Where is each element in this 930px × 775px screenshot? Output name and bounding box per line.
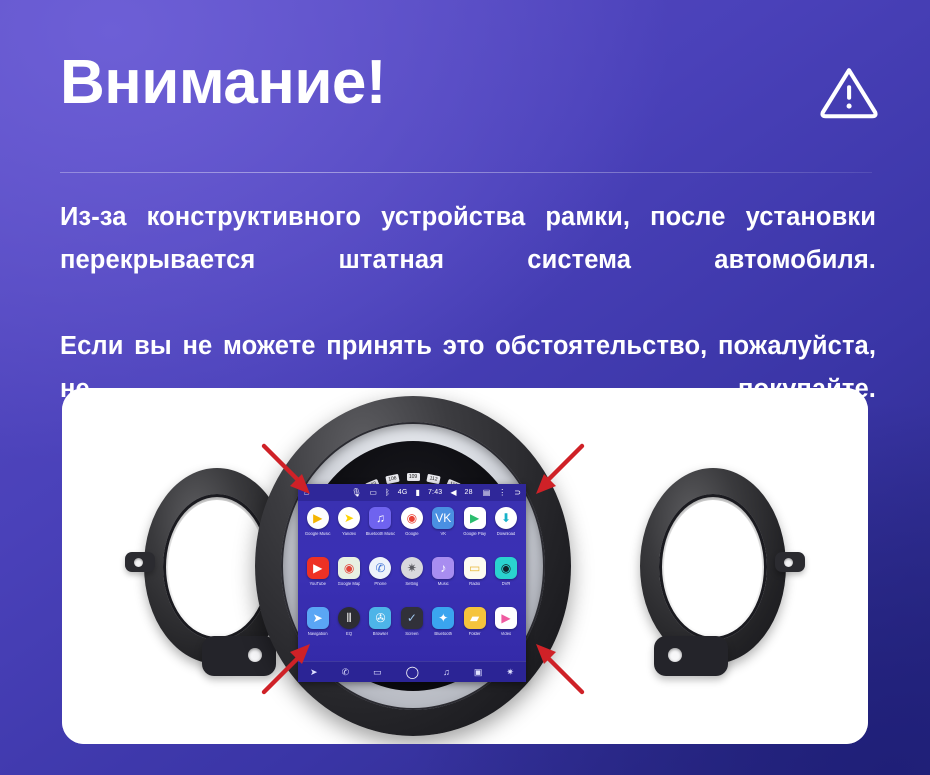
dock-bar: ➤✆▭◯♫▣✷ [298,661,526,682]
car-dashboard-frame-kit-photo: 8891949710010310610911211511812112412713… [62,388,868,744]
mount-hole [134,558,143,567]
app-grid: ▶Google Music➤Yandex♫Bluetooth Music◉Goo… [298,501,526,661]
phone-icon[interactable]: ✆ [369,557,391,579]
bluetooth-music-icon[interactable]: ♫ [369,507,391,529]
status-bar: ⌂ 🎙 ▭ ᛒ 4G ▮ 7:43 ◀ 28 ▤ ⋮ [298,484,526,501]
app-label: Google Map [338,582,361,587]
app-tile[interactable]: ✷Setting [396,557,427,607]
youtube-icon[interactable]: ▶ [307,557,329,579]
app-label: Bluetooth [434,632,452,637]
volume-level: 28 [465,489,473,496]
screen-mirror-icon[interactable]: ✓ [401,607,423,629]
app-label: Google [405,532,419,537]
yandex-navigator-icon[interactable]: ➤ [338,507,360,529]
mount-hole [668,648,682,662]
app-tile[interactable]: ✓Screen [396,607,427,657]
app-tile[interactable]: ◉Google [396,507,427,557]
radio-preset-chip: 109 [407,473,420,481]
mount-foot [654,636,728,676]
recents-icon[interactable]: ▤ [483,489,491,497]
app-label: Phone [374,582,386,587]
app-tile[interactable]: ✦Bluetooth [428,607,459,657]
arrow-bottom-left [258,622,332,696]
ring-inner [659,494,767,640]
volume-icon: ◀ [450,489,456,497]
app-tile[interactable]: ➤Yandex [333,507,364,557]
app-tile[interactable]: ♫Bluetooth Music [365,507,396,557]
home-circle-icon[interactable]: ◯ [406,666,419,678]
paragraph-1: Из-за конструктивного устройства рамки, … [60,196,876,325]
app-tile[interactable]: ♪Music [428,557,459,607]
globe-icon[interactable]: ✇ [369,607,391,629]
photo-card: 8891949710010310610911211511812112412713… [62,388,868,744]
settings-gear-icon[interactable]: ✷ [506,668,514,677]
music-icon[interactable]: ♪ [432,557,454,579]
app-label: Bluetooth Music [366,532,396,537]
header-divider [60,172,872,173]
app-tile[interactable]: ▭Radio [459,557,490,607]
chrome-icon[interactable]: ◉ [401,507,423,529]
app-row: ➤Navigation⦀EQ✇Browser✓Screen✦Bluetooth▰… [302,607,522,657]
arrow-top-left [258,442,332,516]
app-label: VK [440,532,446,537]
radio-preset-chip: 112 [426,474,440,484]
folder-icon[interactable]: ▰ [464,607,486,629]
signal-bars-icon: ▮ [416,489,420,497]
app-label: Video [501,632,512,637]
microphone-icon[interactable]: 🎙 [351,489,361,497]
radio-preset-chip: 106 [385,474,399,484]
app-tile[interactable]: ✇Browser [365,607,396,657]
warning-slide: Внимание! Из-за конструктивного устройст… [0,0,930,775]
app-tile[interactable]: ◉DVR [490,557,521,607]
app-tile[interactable]: ⦀EQ [333,607,364,657]
arrow-bottom-right [514,622,588,696]
google-maps-icon[interactable]: ◉ [338,557,360,579]
app-label: Google Play [463,532,486,537]
vk-icon[interactable]: VK [432,507,454,529]
more-vertical-icon[interactable]: ⋮ [498,489,506,497]
app-label: Google Music [305,532,331,537]
app-tile[interactable]: ▰Folder [459,607,490,657]
app-tile[interactable]: ◉Google Map [333,557,364,607]
app-tile[interactable]: VKVK [428,507,459,557]
header: Внимание! [0,0,930,176]
radio-icon[interactable]: ▭ [373,668,382,677]
app-label: Folder [469,632,481,637]
app-label: Setting [405,582,418,587]
mount-tab [125,552,155,572]
app-label: Radio [469,582,480,587]
app-label: Download [497,532,516,537]
warning-triangle-icon [818,62,880,124]
app-label: EQ [346,632,352,637]
phone-icon[interactable]: ✆ [342,668,350,677]
mount-hole [784,558,793,567]
app-label: Yandex [342,532,356,537]
network-label: 4G [398,489,408,496]
arrow-top-right [514,442,588,516]
app-tile[interactable]: ▶YouTube [302,557,333,607]
app-label: YouTube [309,582,325,587]
bluetooth-icon[interactable]: ✦ [432,607,454,629]
app-row: ▶Google Music➤Yandex♫Bluetooth Music◉Goo… [302,507,522,557]
settings-gear-icon[interactable]: ✷ [401,557,423,579]
right-bezel-ring [640,468,786,664]
android-head-unit-screen[interactable]: ⌂ 🎙 ▭ ᛒ 4G ▮ 7:43 ◀ 28 ▤ ⋮ [298,484,526,682]
app-tile[interactable]: ▶Google Play [459,507,490,557]
radio-icon[interactable]: ▭ [464,557,486,579]
dvr-camera-icon[interactable]: ◉ [495,557,517,579]
video-icon[interactable]: ▣ [474,668,483,677]
app-tile[interactable]: ✆Phone [365,557,396,607]
clock: 7:43 [428,489,442,496]
google-play-icon[interactable]: ▶ [464,507,486,529]
app-label: Screen [405,632,418,637]
bluetooth-icon: ᛒ [385,489,390,497]
page-title: Внимание! [60,52,386,114]
app-label: Music [438,582,449,587]
mount-tab [775,552,805,572]
battery-icon: ▭ [369,489,377,497]
music-note-icon[interactable]: ♫ [443,668,450,677]
app-label: DVR [502,582,511,587]
app-row: ▶YouTube◉Google Map✆Phone✷Setting♪Music▭… [302,557,522,607]
app-label: Browser [373,632,388,637]
equalizer-icon[interactable]: ⦀ [338,607,360,629]
